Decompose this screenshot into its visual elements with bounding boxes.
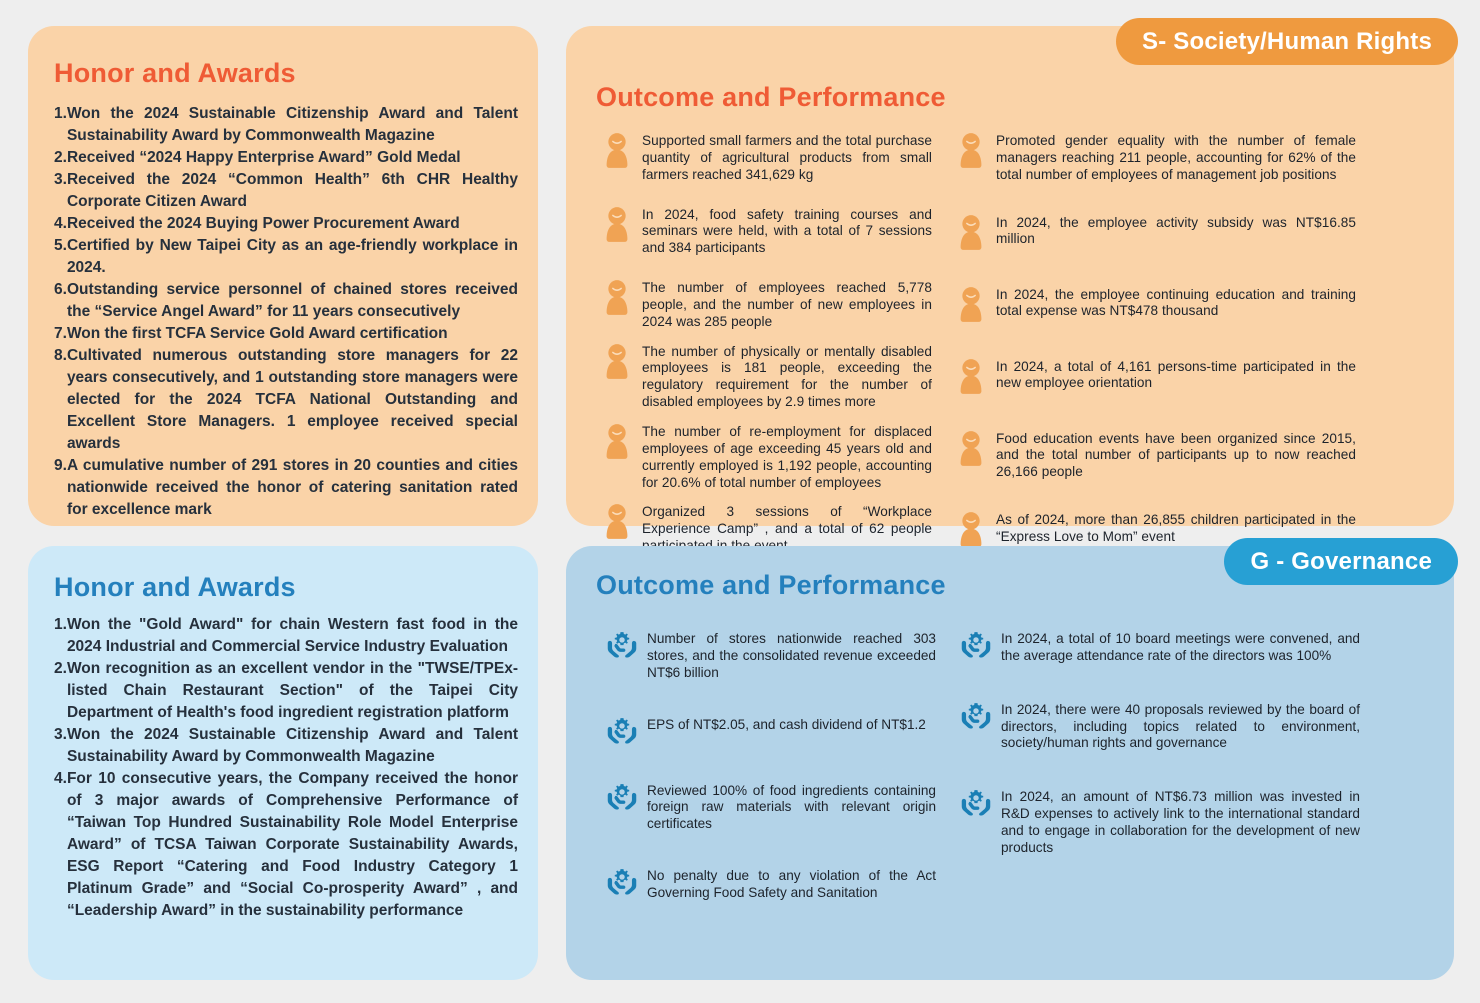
governance-awards-list: 1.Won the "Gold Award" for chain Western… bbox=[54, 614, 518, 922]
list-item-number: 9. bbox=[54, 455, 67, 521]
outcome-item-icon bbox=[956, 358, 986, 400]
person-icon bbox=[958, 286, 984, 323]
list-item: 6.Outstanding service personnel of chain… bbox=[54, 279, 518, 323]
outcome-item-text: In 2024, food safety training courses an… bbox=[642, 206, 932, 258]
outcome-item-icon bbox=[602, 132, 632, 174]
list-item-number: 2. bbox=[54, 658, 67, 724]
person-icon bbox=[604, 343, 630, 380]
outcome-item-text: In 2024, a total of 10 board meetings we… bbox=[1001, 630, 1360, 665]
list-item: 8.Cultivated numerous outstanding store … bbox=[54, 345, 518, 455]
outcome-item-text: The number of re-employment for displace… bbox=[642, 423, 932, 491]
person-icon bbox=[604, 132, 630, 169]
society-awards-panel: Honor and Awards 1.Won the 2024 Sustaina… bbox=[28, 26, 538, 526]
hands-holding-gear-icon bbox=[961, 630, 991, 660]
list-item-number: 6. bbox=[54, 279, 67, 323]
outcome-item-text: Promoted gender equality with the number… bbox=[996, 132, 1356, 184]
person-icon bbox=[604, 279, 630, 316]
society-section-badge: S- Society/Human Rights bbox=[1116, 18, 1458, 65]
outcome-item: In 2024, an amount of NT$6.73 million wa… bbox=[960, 788, 1360, 856]
list-item-number: 2. bbox=[54, 147, 67, 169]
list-item-number: 4. bbox=[54, 213, 67, 235]
outcome-item-icon bbox=[602, 423, 632, 465]
society-outcome-panel: Outcome and Performance Supported small … bbox=[566, 26, 1454, 526]
infographic-page: Honor and Awards 1.Won the 2024 Sustaina… bbox=[0, 0, 1480, 1003]
list-item-text: Won the "Gold Award" for chain Western f… bbox=[67, 614, 518, 658]
outcome-item-icon bbox=[956, 430, 986, 472]
outcome-item-text: In 2024, there were 40 proposals reviewe… bbox=[1001, 701, 1360, 753]
outcome-item: Food education events have been organize… bbox=[956, 430, 1356, 482]
list-item: 3.Won the 2024 Sustainable Citizenship A… bbox=[54, 724, 518, 768]
outcome-item-icon bbox=[606, 630, 638, 662]
society-awards-heading: Honor and Awards bbox=[54, 58, 518, 89]
outcome-item-text: In 2024, the employee continuing educati… bbox=[996, 286, 1356, 321]
list-item: 2.Received “2024 Happy Enterprise Award”… bbox=[54, 147, 518, 169]
outcome-item: No penalty due to any violation of the A… bbox=[606, 867, 936, 902]
outcome-item-icon bbox=[956, 132, 986, 174]
list-item-text: Won recognition as an excellent vendor i… bbox=[67, 658, 518, 724]
list-item-text: A cumulative number of 291 stores in 20 … bbox=[67, 455, 518, 521]
list-item: 9.A cumulative number of 291 stores in 2… bbox=[54, 455, 518, 521]
outcome-item: Supported small farmers and the total pu… bbox=[602, 132, 932, 184]
outcome-item: In 2024, a total of 10 board meetings we… bbox=[960, 630, 1360, 665]
list-item-text: For 10 consecutive years, the Company re… bbox=[67, 768, 518, 922]
outcome-item: In 2024, there were 40 proposals reviewe… bbox=[960, 701, 1360, 753]
outcome-item-text: Food education events have been organize… bbox=[996, 430, 1356, 482]
outcome-item: In 2024, the employee continuing educati… bbox=[956, 286, 1356, 328]
list-item-number: 1. bbox=[54, 614, 67, 658]
list-item-number: 4. bbox=[54, 768, 67, 922]
governance-outcome-right-column: In 2024, a total of 10 board meetings we… bbox=[960, 630, 1360, 936]
outcome-item: In 2024, a total of 4,161 persons-time p… bbox=[956, 358, 1356, 400]
outcome-item-icon bbox=[956, 286, 986, 328]
outcome-item-icon bbox=[960, 701, 992, 733]
governance-outcome-heading: Outcome and Performance bbox=[596, 570, 946, 601]
outcome-item-text: EPS of NT$2.05, and cash dividend of NT$… bbox=[647, 716, 936, 734]
list-item-number: 7. bbox=[54, 323, 67, 345]
list-item-number: 3. bbox=[54, 169, 67, 213]
hands-holding-gear-icon bbox=[607, 716, 637, 746]
list-item: 2.Won recognition as an excellent vendor… bbox=[54, 658, 518, 724]
outcome-item-icon bbox=[602, 279, 632, 321]
outcome-item-text: Number of stores nationwide reached 303 … bbox=[647, 630, 936, 682]
outcome-item: The number of physically or mentally dis… bbox=[602, 343, 932, 411]
outcome-item-text: Reviewed 100% of food ingredients contai… bbox=[647, 782, 936, 834]
hands-holding-gear-icon bbox=[607, 867, 637, 897]
outcome-item: Reviewed 100% of food ingredients contai… bbox=[606, 782, 936, 834]
outcome-item: EPS of NT$2.05, and cash dividend of NT$… bbox=[606, 716, 936, 748]
list-item-text: Won the 2024 Sustainable Citizenship Awa… bbox=[67, 724, 518, 768]
person-icon bbox=[604, 206, 630, 243]
outcome-item: In 2024, the employee activity subsidy w… bbox=[956, 214, 1356, 256]
person-icon bbox=[958, 214, 984, 251]
outcome-item-text: In 2024, the employee activity subsidy w… bbox=[996, 214, 1356, 249]
list-item-text: Received “2024 Happy Enterprise Award” G… bbox=[67, 147, 518, 169]
governance-awards-heading: Honor and Awards bbox=[54, 572, 518, 603]
outcome-item-icon bbox=[602, 343, 632, 385]
list-item: 4.For 10 consecutive years, the Company … bbox=[54, 768, 518, 922]
hands-holding-gear-icon bbox=[607, 630, 637, 660]
outcome-item-text: In 2024, a total of 4,161 persons-time p… bbox=[996, 358, 1356, 393]
list-item-text: Cultivated numerous outstanding store ma… bbox=[67, 345, 518, 455]
person-icon bbox=[958, 511, 984, 548]
outcome-item: In 2024, food safety training courses an… bbox=[602, 206, 932, 258]
hands-holding-gear-icon bbox=[607, 782, 637, 812]
outcome-item: The number of employees reached 5,778 pe… bbox=[602, 279, 932, 331]
outcome-item: Number of stores nationwide reached 303 … bbox=[606, 630, 936, 682]
list-item-number: 3. bbox=[54, 724, 67, 768]
outcome-item-text: Supported small farmers and the total pu… bbox=[642, 132, 932, 184]
list-item-text: Won the first TCFA Service Gold Award ce… bbox=[67, 323, 518, 345]
outcome-item-icon bbox=[956, 214, 986, 256]
outcome-item-icon bbox=[960, 788, 992, 820]
list-item: 7.Won the first TCFA Service Gold Award … bbox=[54, 323, 518, 345]
list-item-text: Received the 2024 Buying Power Procureme… bbox=[67, 213, 518, 235]
list-item-text: Received the 2024 “Common Health” 6th CH… bbox=[67, 169, 518, 213]
list-item: 1.Won the 2024 Sustainable Citizenship A… bbox=[54, 103, 518, 147]
list-item: 1.Won the "Gold Award" for chain Western… bbox=[54, 614, 518, 658]
person-icon bbox=[958, 430, 984, 467]
list-item-text: Outstanding service personnel of chained… bbox=[67, 279, 518, 323]
outcome-item-icon bbox=[602, 503, 632, 545]
governance-awards-panel: Honor and Awards 1.Won the "Gold Award" … bbox=[28, 546, 538, 980]
outcome-item-text: No penalty due to any violation of the A… bbox=[647, 867, 936, 902]
person-icon bbox=[958, 132, 984, 169]
outcome-item-icon bbox=[606, 716, 638, 748]
person-icon bbox=[604, 423, 630, 460]
list-item-number: 5. bbox=[54, 235, 67, 279]
hands-holding-gear-icon bbox=[961, 788, 991, 818]
outcome-item-icon bbox=[960, 630, 992, 662]
outcome-item-icon bbox=[606, 782, 638, 814]
hands-holding-gear-icon bbox=[961, 701, 991, 731]
outcome-item-text: In 2024, an amount of NT$6.73 million wa… bbox=[1001, 788, 1360, 856]
list-item-text: Certified by New Taipei City as an age-f… bbox=[67, 235, 518, 279]
list-item-text: Won the 2024 Sustainable Citizenship Awa… bbox=[67, 103, 518, 147]
governance-outcome-panel: Outcome and Performance Number of stores… bbox=[566, 546, 1454, 980]
society-outcome-heading: Outcome and Performance bbox=[596, 82, 946, 113]
outcome-item: Promoted gender equality with the number… bbox=[956, 132, 1356, 184]
person-icon bbox=[604, 503, 630, 540]
list-item-number: 8. bbox=[54, 345, 67, 455]
society-awards-list: 1.Won the 2024 Sustainable Citizenship A… bbox=[54, 103, 518, 521]
outcome-item: The number of re-employment for displace… bbox=[602, 423, 932, 491]
outcome-item-icon bbox=[606, 867, 638, 899]
list-item-number: 1. bbox=[54, 103, 67, 147]
list-item: 3.Received the 2024 “Common Health” 6th … bbox=[54, 169, 518, 213]
person-icon bbox=[958, 358, 984, 395]
outcome-item-icon bbox=[602, 206, 632, 248]
governance-section-badge: G - Governance bbox=[1224, 538, 1458, 585]
outcome-item-text: The number of employees reached 5,778 pe… bbox=[642, 279, 932, 331]
list-item: 4.Received the 2024 Buying Power Procure… bbox=[54, 213, 518, 235]
governance-outcome-columns: Number of stores nationwide reached 303 … bbox=[606, 630, 1432, 936]
list-item: 5.Certified by New Taipei City as an age… bbox=[54, 235, 518, 279]
outcome-item-text: The number of physically or mentally dis… bbox=[642, 343, 932, 411]
governance-outcome-left-column: Number of stores nationwide reached 303 … bbox=[606, 630, 936, 936]
